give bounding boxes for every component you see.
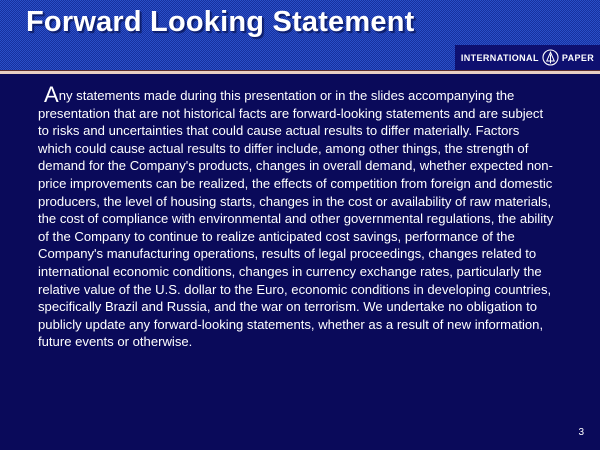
page-number: 3 [578,427,584,438]
logo-text-paper: PAPER [562,53,594,63]
page-title: Forward Looking Statement [26,6,414,39]
logo-text-international: INTERNATIONAL [461,53,539,63]
international-paper-logo: INTERNATIONAL PAPER [455,45,600,70]
slide-body: Any statements made during this presenta… [38,86,556,351]
drop-cap-letter: A [44,82,59,107]
header-divider-rule [0,70,600,74]
slide: Forward Looking Statement INTERNATIONAL … [0,0,600,450]
forward-looking-statement-paragraph: Any statements made during this presenta… [38,86,556,351]
tree-in-circle-icon [542,49,559,66]
body-paragraph-text: ny statements made during this presentat… [38,88,553,349]
